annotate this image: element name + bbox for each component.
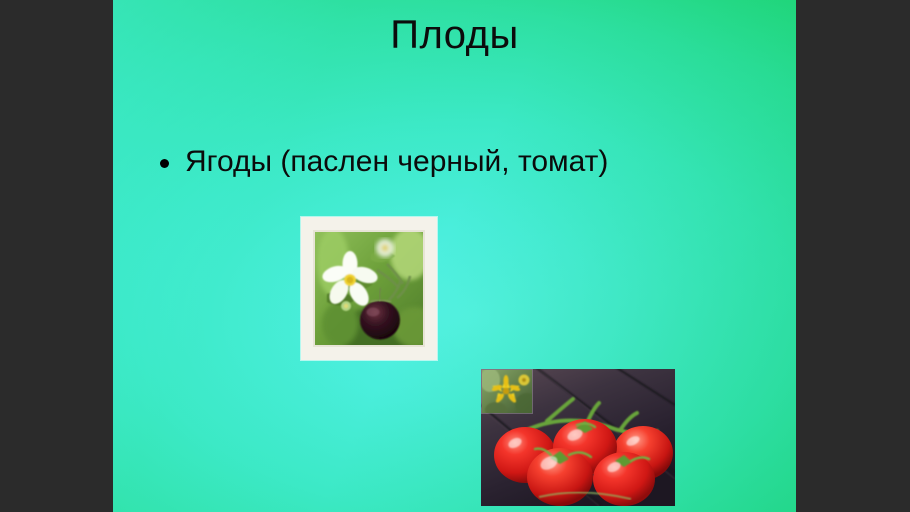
bullet-label-berries: Ягоды (паслен черный, томат) (185, 145, 608, 179)
black-nightshade-photo (301, 217, 437, 360)
tomato-flower-artwork (482, 370, 533, 414)
slide-title: Плоды (113, 14, 796, 56)
tomato-flower-inset (481, 369, 533, 414)
presentation-slide: Плоды Ягоды (паслен черный, томат) (113, 0, 796, 512)
black-nightshade-artwork (315, 232, 425, 347)
screenshot-viewport: Плоды Ягоды (паслен черный, томат) (0, 0, 910, 512)
bullet-item-berries: Ягоды (паслен черный, томат) (160, 145, 796, 179)
tomato-photo (481, 369, 675, 506)
bullet-marker-icon (160, 159, 169, 168)
black-nightshade-photo-inner (313, 230, 425, 347)
